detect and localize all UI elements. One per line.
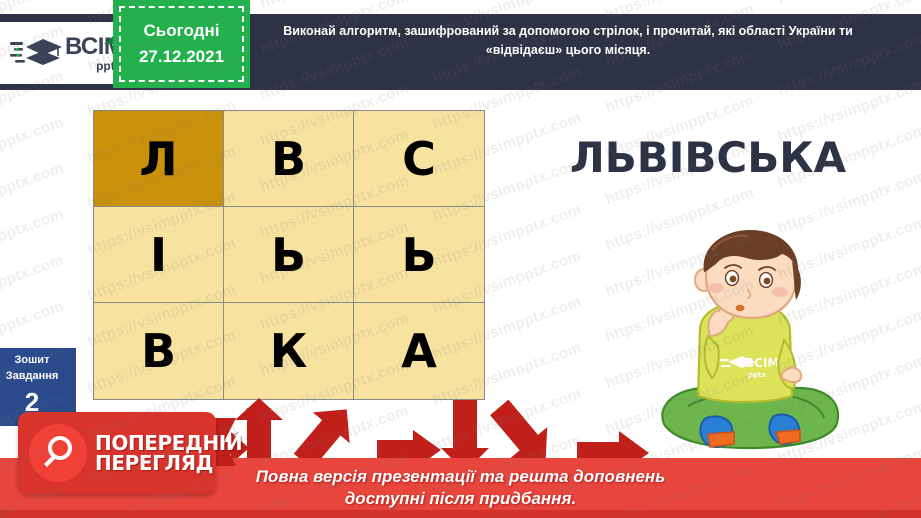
grid-cell[interactable]: Ь: [224, 207, 354, 303]
bottom-banner-line1: Повна версія презентації та решта доповн…: [256, 467, 666, 486]
grid-cell[interactable]: В: [224, 111, 354, 207]
grid-cell[interactable]: Л: [94, 111, 224, 207]
grid-cell[interactable]: Ь: [354, 207, 484, 303]
bottom-banner-line2: доступні після придбання.: [345, 489, 576, 508]
task-badge-line1: Зошит: [0, 353, 76, 369]
grid-cell[interactable]: С: [354, 111, 484, 207]
svg-text:ВСІМ: ВСІМ: [745, 356, 779, 370]
magnifier-icon: [29, 424, 87, 482]
today-label: Сьогодні: [144, 21, 220, 41]
grid-cell[interactable]: І: [94, 207, 224, 303]
preview-button-labels: ПОПЕРЕДНІЙ ПЕРЕГЛЯД: [95, 433, 242, 474]
slide-root: Виконай алгоритм, зашифрований за допомо…: [0, 0, 921, 518]
answer-word: ЛЬВІВСЬКА: [548, 133, 868, 182]
grid-cell[interactable]: В: [94, 303, 224, 399]
grid-cell[interactable]: К: [224, 303, 354, 399]
preview-button[interactable]: ПОПЕРЕДНІЙ ПЕРЕГЛЯД: [18, 412, 216, 494]
grid-cell[interactable]: А: [354, 303, 484, 399]
bottom-banner-text: Повна версія презентації та решта доповн…: [256, 466, 666, 510]
today-date: 27.12.2021: [139, 47, 224, 67]
graduation-cap-icon: [10, 33, 64, 73]
svg-text:pptx: pptx: [748, 371, 766, 379]
preview-button-line1: ПОПЕРЕДНІЙ: [95, 433, 242, 453]
task-badge-line2: Завдання: [0, 369, 76, 385]
today-badge: Сьогодні 27.12.2021: [113, 0, 250, 88]
preview-button-line2: ПЕРЕГЛЯД: [95, 453, 242, 473]
letter-grid: Л В С І Ь Ь В К А: [93, 110, 485, 400]
instruction-text: Виконай алгоритм, зашифрований за допомо…: [258, 22, 878, 61]
